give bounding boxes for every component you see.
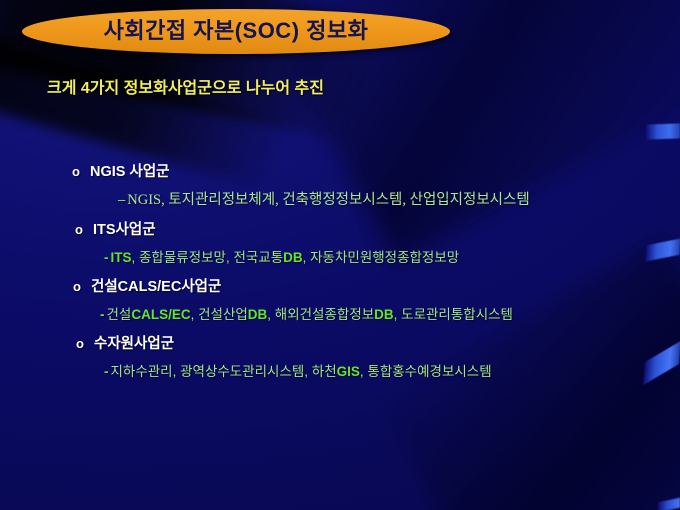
sub-rest: , 자동차민원행정종합정보망 [303,250,460,265]
page-title: 사회간접 자본(SOC) 정보화 [104,20,369,42]
group-subitems: -지하수관리, 광역상수도관리시스템, 하천GIS, 통합홍수예경보시스템 [0,360,680,380]
sub-dash-icon: - [100,307,105,322]
content-group-ngis: o NGIS 사업군 –NGIS, 토지관리정보체계, 건축행정정보시스템, 산… [0,160,680,209]
bullet-marker-icon: o [76,336,94,351]
sub-emphasis-2: DB [283,250,303,265]
group-heading-label: ITS사업군 [93,218,156,239]
sub-prefix: CALS/EC [131,307,190,322]
bullet-marker-icon: o [73,279,91,294]
slide-title-badge: 사회간접 자본(SOC) 정보화 [22,9,450,54]
sub-mid: , 건설산업 [191,307,248,322]
bullet-marker-icon: o [72,164,90,179]
group-heading: o 건설CALS/EC사업군 [0,275,680,296]
sub-rest: , 통합홍수예경보시스템 [360,364,492,379]
sub-prefix: ITS [111,250,132,265]
slide-subtitle: 크게 4가지 정보화사업군으로 나누어 추진 [47,74,324,98]
content-group-cals-ec: o 건설CALS/EC사업군 -건설CALS/EC, 건설산업DB, 해외건설종… [0,275,680,323]
group-heading: o ITS사업군 [0,218,680,239]
group-subitems: -건설CALS/EC, 건설산업DB, 해외건설종합정보DB, 도로관리통합시스… [0,303,680,323]
sub-dash-icon: - [104,364,109,379]
group-heading-label: 수자원사업군 [94,332,174,353]
sub-lead: 건설 [107,307,132,322]
group-heading-label: 건설CALS/EC사업군 [91,275,221,296]
group-heading-label: NGIS 사업군 [90,160,170,181]
bullet-marker-icon: o [75,222,93,237]
group-heading: o NGIS 사업군 [0,160,680,181]
content-group-water-resources: o 수자원사업군 -지하수관리, 광역상수도관리시스템, 하천GIS, 통합홍수… [0,332,680,380]
sub-prefix: NGIS [127,192,161,208]
sub-emphasis-2: DB [248,307,268,322]
presentation-slide: 사회간접 자본(SOC) 정보화 크게 4가지 정보화사업군으로 나누어 추진 … [0,0,680,510]
content-groups: o NGIS 사업군 –NGIS, 토지관리정보체계, 건축행정정보시스템, 산… [0,160,680,389]
edge-streak-4-icon [658,498,680,510]
sub-rest: , 도로관리통합시스템 [394,307,513,322]
sub-mid-2: , 해외건설종합정보 [267,307,374,322]
sub-lead: 지하수관리, 광역상수도관리시스템, 하천 [111,364,337,379]
sub-emphasis-3: DB [374,307,394,322]
sub-prefix: GIS [337,364,360,379]
sub-mid: , 종합물류정보망, 전국교통 [132,250,284,265]
sub-dash-icon: - [104,250,109,265]
group-subitems: –NGIS, 토지관리정보체계, 건축행정정보시스템, 산업입지정보시스템 [0,188,680,209]
sub-rest: , 토지관리정보체계, 건축행정정보시스템, 산업입지정보시스템 [161,192,530,208]
group-subitems: -ITS, 종합물류정보망, 전국교통DB, 자동차민원행정종합정보망 [0,246,680,266]
content-group-its: o ITS사업군 -ITS, 종합물류정보망, 전국교통DB, 자동차민원행정종… [0,218,680,266]
sub-dash-icon: – [118,192,125,208]
group-heading: o 수자원사업군 [0,332,680,353]
edge-streak-1-icon [646,123,680,139]
